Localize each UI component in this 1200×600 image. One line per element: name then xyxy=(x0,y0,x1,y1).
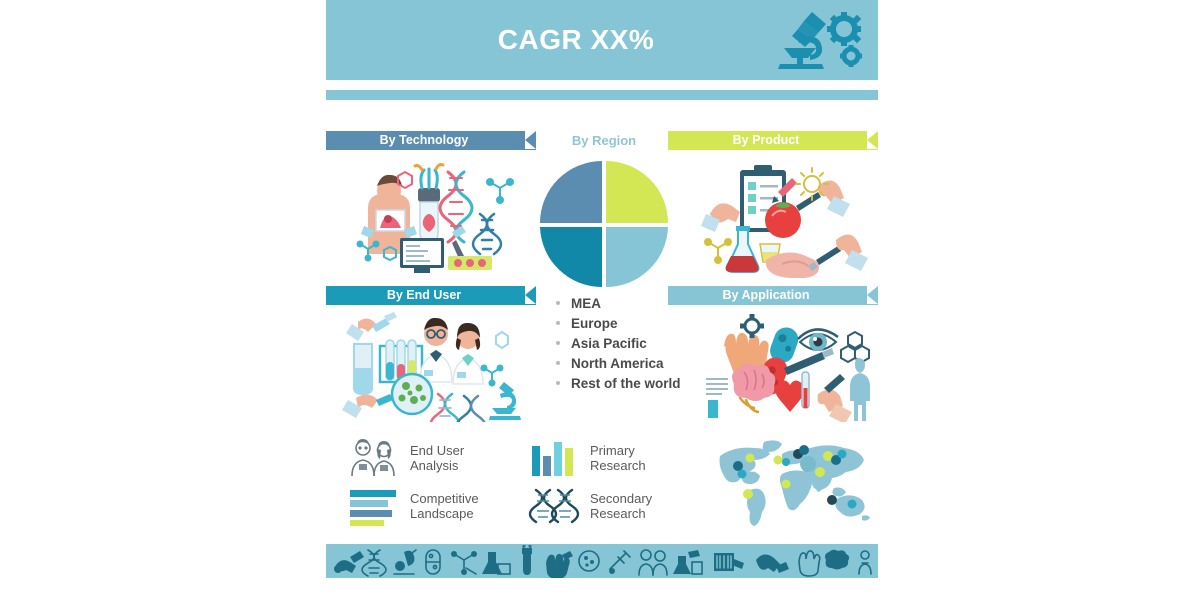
bullet-icon xyxy=(556,301,560,305)
world-map-icon xyxy=(716,432,876,528)
bullet-icon xyxy=(556,381,560,385)
bar-chart-icon xyxy=(528,438,580,478)
food-product-testing-illustration xyxy=(700,158,880,278)
methodology-label: Primary Research xyxy=(590,443,646,473)
methodology-label: Competitive Landscape xyxy=(410,491,479,521)
region-name: MEA xyxy=(571,296,601,311)
methodology-primary-research: Primary Research xyxy=(528,438,646,478)
region-name: Europe xyxy=(571,316,618,331)
methodology-label: Secondary Research xyxy=(590,491,652,521)
methodology-end-user-analysis: End User Analysis xyxy=(348,438,464,478)
region-name: North America xyxy=(571,356,664,371)
pie-slice-bottom-right xyxy=(606,227,668,287)
list-item: MEA xyxy=(556,296,756,311)
medical-applications-illustration xyxy=(706,312,881,422)
bullet-icon xyxy=(556,321,560,325)
microscope-gears-icon xyxy=(768,8,868,72)
dna-helix-icon xyxy=(528,486,580,526)
section-banner-by-technology[interactable]: By Technology xyxy=(326,131,536,150)
pie-slice-bottom-left xyxy=(540,227,602,287)
region-pie-chart xyxy=(539,158,669,288)
section-banner-label: By Product xyxy=(668,131,878,150)
horizontal-bars-icon xyxy=(348,486,400,526)
section-label-by-region: By Region xyxy=(545,131,663,150)
header-divider-bar xyxy=(326,90,878,100)
methodology-secondary-research: Secondary Research xyxy=(528,486,652,526)
bullet-icon xyxy=(556,361,560,365)
header-bar: CAGR XX% xyxy=(326,0,878,80)
two-people-icon xyxy=(348,438,400,478)
region-name: Rest of the world xyxy=(571,376,681,391)
section-banner-label: By End User xyxy=(326,286,536,305)
infographic-canvas: CAGR XX% xyxy=(0,0,1200,600)
page-title: CAGR XX% xyxy=(326,0,826,80)
pie-slice-top-left xyxy=(540,161,602,223)
methodology-competitive-landscape: Competitive Landscape xyxy=(348,486,479,526)
region-name: Asia Pacific xyxy=(571,336,647,351)
methodology-label: End User Analysis xyxy=(410,443,464,473)
pie-slice-top-right xyxy=(606,161,668,223)
footer-icon-strip xyxy=(326,544,878,578)
genomics-technology-illustration xyxy=(340,158,525,278)
section-banner-by-end-user[interactable]: By End User xyxy=(326,286,536,305)
laboratory-scientists-illustration xyxy=(340,312,525,422)
section-banner-by-product[interactable]: By Product xyxy=(668,131,878,150)
section-banner-label: By Technology xyxy=(326,131,536,150)
bullet-icon xyxy=(556,341,560,345)
